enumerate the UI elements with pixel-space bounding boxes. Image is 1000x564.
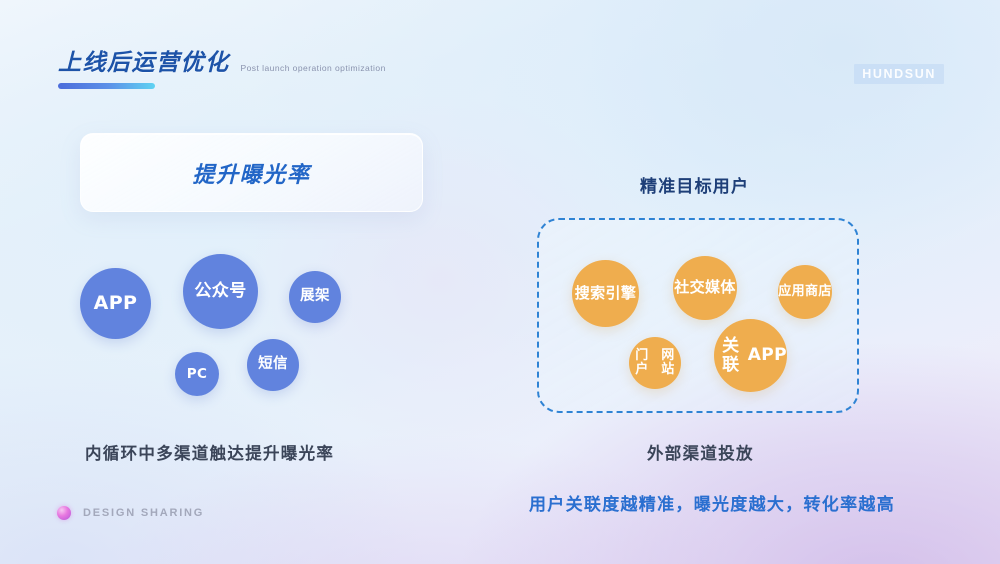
left-panel-caption: 内循环中多渠道触达提升曝光率	[85, 440, 334, 464]
internal-channel-bubble-短信[interactable]: 短信	[247, 339, 299, 391]
bubble-label-line: APP	[748, 346, 787, 364]
bubble-label-line: 关联	[714, 337, 748, 373]
brand-logo: HUNDSUN	[854, 64, 944, 84]
external-channel-bubble-关联APP[interactable]: 关联APP	[714, 319, 787, 392]
tagline-text: 用户关联度越精准，曝光度越大，转化率越高	[529, 490, 895, 515]
right-panel-caption: 外部渠道投放	[647, 440, 754, 464]
bubble-label-line: 商店	[805, 285, 832, 299]
slide-footer: DESIGN SHARING	[57, 506, 204, 520]
bubble-label-line: PC	[187, 367, 208, 381]
page-title: 上线后运营优化	[58, 52, 230, 75]
bubble-label-line: 引擎	[606, 286, 637, 302]
external-channel-bubble-门户网站[interactable]: 门户网站	[629, 337, 681, 389]
bubble-label-line: 公众号	[194, 282, 246, 300]
external-channel-bubble-社交媒体[interactable]: 社交媒体	[673, 256, 737, 320]
exposure-card: 提升曝光率	[80, 133, 423, 212]
bubble-label-line: 社交	[674, 280, 705, 296]
bubble-label-line: 搜索	[575, 286, 606, 302]
footer-label: DESIGN SHARING	[83, 507, 204, 519]
bubble-label-line: 门户	[629, 349, 655, 377]
external-channel-bubble-应用商店[interactable]: 应用商店	[778, 265, 832, 319]
internal-channel-bubble-公众号[interactable]: 公众号	[183, 254, 258, 329]
internal-channel-bubble-展架[interactable]: 展架	[289, 271, 341, 323]
bubble-label-line: 应用	[778, 285, 805, 299]
bubble-label-line: 媒体	[705, 280, 736, 296]
title-underline-bar	[58, 83, 155, 89]
sphere-icon	[57, 506, 71, 520]
title-row: 上线后运营优化 Post launch operation optimizati…	[58, 52, 386, 75]
bubble-label-line: 网站	[655, 349, 681, 377]
slide-canvas: 上线后运营优化 Post launch operation optimizati…	[0, 0, 1000, 564]
bubble-label-line: 短信	[258, 357, 288, 372]
bubble-label-line: APP	[94, 293, 138, 313]
slide-header: 上线后运营优化 Post launch operation optimizati…	[58, 52, 386, 89]
exposure-card-title: 提升曝光率	[192, 157, 310, 189]
internal-channel-bubble-PC[interactable]: PC	[175, 352, 219, 396]
bubble-label-line: 展架	[300, 289, 330, 304]
external-channel-bubble-搜索引擎[interactable]: 搜索引擎	[572, 260, 639, 327]
internal-channel-bubble-APP[interactable]: APP	[80, 268, 151, 339]
target-users-heading: 精准目标用户	[640, 172, 749, 197]
page-subtitle: Post launch operation optimization	[241, 63, 386, 75]
brand-logo-text: HUNDSUN	[862, 67, 936, 81]
